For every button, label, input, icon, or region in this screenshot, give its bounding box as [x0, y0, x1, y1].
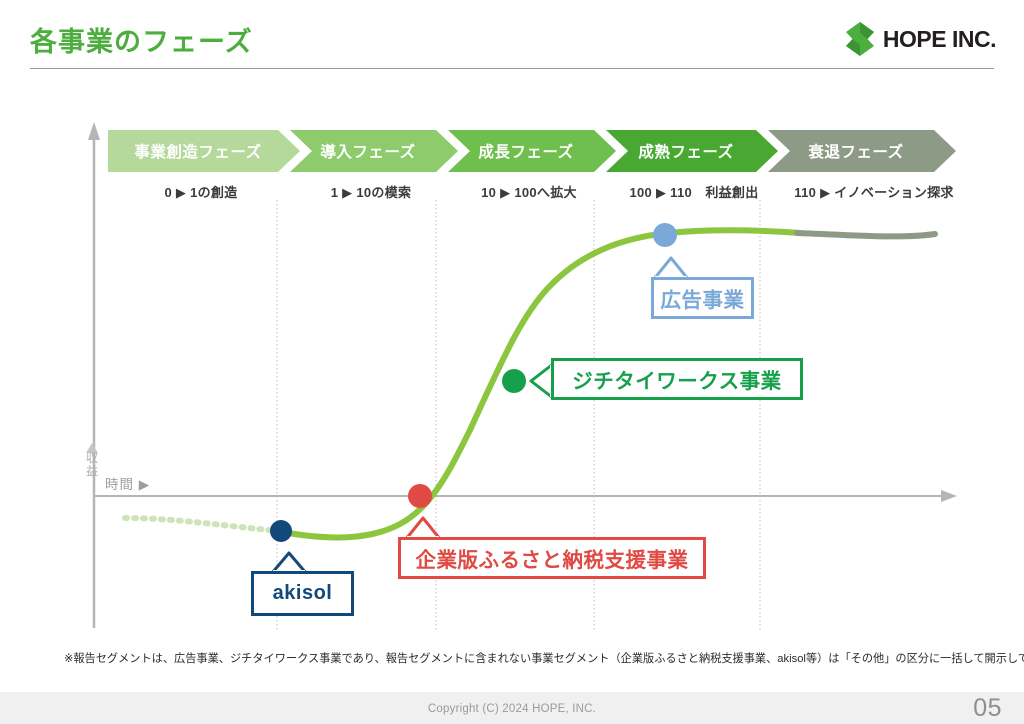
page-title: 各事業のフェーズ — [30, 20, 253, 59]
phase-label-1: 事業創造フェーズ — [134, 140, 261, 162]
furusato-callout-pointer — [406, 518, 440, 539]
y-axis — [88, 122, 100, 628]
phase-sub-5: 110 ▶ イノベーション探求 — [778, 182, 970, 201]
marker-kokoku[interactable] — [653, 223, 677, 247]
x-axis — [94, 490, 957, 502]
phase-band: 事業創造フェーズ 導入フェーズ 成長フェーズ 成熟フェーズ 衰退フェーズ — [108, 130, 956, 172]
phase-label-2: 導入フェーズ — [320, 140, 415, 162]
phase-label-5: 衰退フェーズ — [808, 140, 903, 162]
kokoku-callout-pointer — [654, 258, 688, 279]
curve-dotted-start — [125, 518, 277, 531]
phase-chevron-1[interactable]: 事業創造フェーズ — [108, 130, 300, 172]
callout-kokoku-label: 広告事業 — [661, 283, 745, 313]
header-divider — [30, 68, 994, 69]
callout-akisol-label: akisol — [273, 582, 333, 605]
phase-sub-1: 0 ▶ 1の創造 — [108, 182, 294, 201]
footnote: ※報告セグメントは、広告事業、ジチタイワークス事業であり、報告セグメントに含まれ… — [64, 650, 1024, 666]
phase-chevron-4[interactable]: 成熟フェーズ — [606, 130, 778, 172]
phase-sub-4: 100 ▶ 110 利益創出 — [606, 182, 782, 201]
phase-chevron-2[interactable]: 導入フェーズ — [290, 130, 458, 172]
phase-chevron-5[interactable]: 衰退フェーズ — [768, 130, 956, 172]
y-axis-label: 収益 — [84, 452, 100, 478]
marker-furusato[interactable] — [408, 484, 432, 508]
phase-sub-3: 10 ▶ 100へ拡大 — [448, 182, 610, 201]
company-logo: HOPE INC. — [845, 22, 996, 56]
phase-label-3: 成長フェーズ — [478, 140, 573, 162]
curve-decline-tail — [797, 233, 935, 236]
callout-furusato[interactable]: 企業版ふるさと納税支援事業 — [398, 537, 706, 579]
phase-label-4: 成熟フェーズ — [638, 140, 733, 162]
marker-akisol[interactable] — [270, 520, 292, 542]
phase-sub-2: 1 ▶ 10の模索 — [290, 182, 452, 201]
x-axis-label: 時間 ▶ — [105, 473, 150, 493]
akisol-callout-pointer — [272, 553, 306, 573]
slide-root: 各事業のフェーズ HOPE INC. 事業創造フェーズ 導入フェーズ 成長フェー… — [0, 0, 1024, 724]
callout-kokoku[interactable]: 広告事業 — [651, 277, 754, 319]
jichitai-callout-pointer — [531, 364, 553, 398]
footer-page-number: 05 — [973, 694, 1002, 723]
up-arrow-icon — [88, 122, 100, 140]
callout-furusato-label: 企業版ふるさと納税支援事業 — [416, 543, 689, 573]
hope-leaf-logo-icon — [845, 22, 875, 56]
lifecycle-chart — [0, 0, 1024, 724]
callout-akisol[interactable]: akisol — [251, 571, 354, 616]
footer-copyright: Copyright (C) 2024 HOPE, INC. — [0, 703, 1024, 715]
phase-chevron-3[interactable]: 成長フェーズ — [448, 130, 616, 172]
right-arrow-icon — [941, 490, 957, 502]
logo-text: HOPE INC. — [883, 26, 996, 53]
callout-jichitai-label: ジチタイワークス事業 — [572, 364, 781, 394]
marker-jichitai[interactable] — [502, 369, 526, 393]
callout-jichitai[interactable]: ジチタイワークス事業 — [551, 358, 803, 400]
